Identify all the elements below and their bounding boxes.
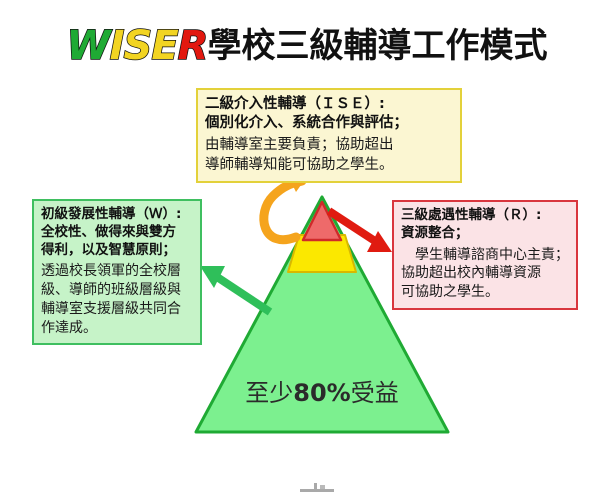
green-arrow [200, 266, 270, 312]
box-w-body-line3: 輔導室支援層級共同合 [41, 300, 193, 319]
box-r-body-line1: 學生輔導諮商中心主責； [401, 246, 569, 265]
box-w-heading-line2: 全校性、做得來與雙方 [41, 224, 193, 242]
wiser-letter-w: W [67, 23, 110, 69]
pyramid-base-label-value: 80% [293, 379, 350, 407]
box-w-body-line4: 作達成。 [41, 319, 193, 338]
box-ise-body-line1: 由輔導室主要負責；協助超出 [205, 136, 453, 155]
pyramid-base-label: 至少80%受益 [196, 373, 448, 408]
box-w-body-line1: 透過校長領軍的全校層 [41, 262, 193, 281]
box-w-heading-line1: 初級發展性輔導（Ｗ）: [41, 206, 193, 224]
callout-box-w-primary: 初級發展性輔導（Ｗ）: 全校性、做得來與雙方 得利，以及智慧原則； 透過校長領軍… [32, 199, 202, 345]
wiser-letter-e: E [151, 23, 177, 69]
callout-box-r-tertiary: 三級處遇性輔導（Ｒ）: 資源整合； 學生輔導諮商中心主責； 協助超出校內輔導資源… [392, 200, 578, 310]
box-r-body-line2: 協助超出校內輔導資源 [401, 264, 569, 283]
box-r-heading-line1: 三級處遇性輔導（Ｒ）: [401, 207, 569, 225]
wiser-letter-i: I [110, 23, 124, 69]
box-ise-heading-line1: 二級介入性輔導（ＩＳＥ）: [205, 95, 453, 114]
page-title-suffix: 學校三級輔導工作模式 [207, 26, 547, 66]
callout-box-ise-secondary: 二級介入性輔導（ＩＳＥ）: 個別化介入、系統合作與評估； 由輔導室主要負責；協助… [196, 88, 462, 183]
bottom-artifact-icon [300, 483, 334, 492]
wiser-letter-s: S [124, 23, 152, 69]
pyramid-base-label-prefix: 至少 [245, 379, 293, 407]
box-ise-body-line2: 導師輔導知能可協助之學生。 [205, 156, 453, 175]
box-r-heading-line2: 資源整合； [401, 225, 569, 243]
box-r-body-line3: 可協助之學生。 [401, 283, 569, 302]
box-w-heading-line3: 得利，以及智慧原則； [41, 242, 193, 260]
wiser-logo: WISER [67, 23, 208, 69]
pyramid-base-label-suffix: 受益 [351, 379, 399, 407]
slide-canvas: WISER學校三級輔導工作模式 二級介入性輔導（ＩＳＥ）: 個別化介入、系統合作… [0, 0, 614, 495]
page-title: WISER學校三級輔導工作模式 [0, 26, 614, 66]
box-w-body-line2: 級、導師的班級層級與 [41, 281, 193, 300]
box-ise-heading-line2: 個別化介入、系統合作與評估； [205, 114, 453, 133]
wiser-letter-r: R [178, 23, 208, 69]
